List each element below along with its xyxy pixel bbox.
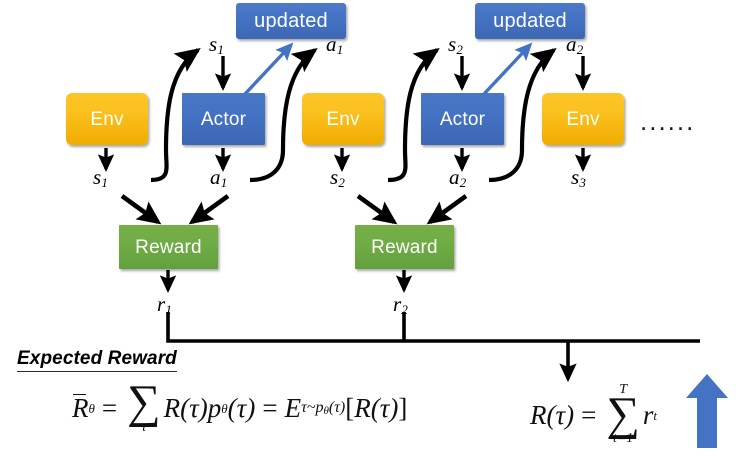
label-a2-top: a2	[566, 34, 583, 56]
label-a1-bottom-sub: 1	[221, 175, 228, 190]
actor-box-2[interactable]: Actor	[421, 93, 504, 145]
arrow-s1-to-reward1	[122, 196, 158, 222]
label-s2-bottom-base: s	[330, 165, 338, 189]
actor-box-2-label: Actor	[440, 110, 485, 129]
reward-box-2-label: Reward	[371, 238, 438, 257]
formula-term-reward: R(τ)	[164, 395, 208, 422]
label-s1-top: s1	[209, 34, 224, 56]
env-box-3[interactable]: Env	[542, 93, 624, 145]
actor-box-1[interactable]: Actor	[182, 93, 265, 145]
diagram-canvas: Env Actor Env Actor Env updated updated …	[0, 0, 755, 459]
env-box-2[interactable]: Env	[302, 93, 384, 145]
reward-box-2[interactable]: Reward	[355, 225, 454, 269]
formula-sum-2: T ∑ t=1	[606, 384, 640, 446]
formula-total-return-equals: =	[574, 402, 603, 429]
formula-bracket-open: [	[345, 395, 354, 422]
formula-total-return: R(τ) = T ∑ t=1 rt	[530, 384, 657, 446]
formula-bracket-content: R(τ)	[354, 395, 398, 422]
formula-sum-1: ∑ τ	[127, 383, 161, 434]
actor-box-1-label: Actor	[201, 110, 246, 129]
blue-arrow-actor2-to-updated2	[484, 45, 530, 94]
label-r1-base: r	[157, 292, 165, 316]
formula-sum-1-symbol: ∑	[127, 383, 161, 422]
arrow-s2-to-reward2	[358, 196, 394, 222]
formula-sum-1-index: τ	[141, 422, 146, 435]
section-heading-expected-reward: Expected Reward	[17, 349, 177, 372]
formula-bracket-close: ]	[398, 395, 407, 422]
formula-lhs-rbar: R	[72, 395, 89, 422]
blue-arrow-actor1-to-updated1	[245, 45, 291, 94]
label-s3-bottom: s3	[571, 167, 586, 189]
formula-lhs-symbol: R	[72, 393, 89, 423]
label-a2-bottom: a2	[449, 167, 466, 189]
label-a1-top-base: a	[326, 32, 337, 56]
label-a1-bottom-base: a	[210, 165, 221, 189]
section-heading-text: Expected Reward	[17, 349, 177, 372]
updated-box-1-label: updated	[254, 11, 328, 31]
formula-total-return-term: r	[643, 402, 654, 429]
formula-total-return-term-subscript: t	[653, 409, 657, 422]
formula-equals-2: =	[255, 395, 284, 422]
formula-expectation-subscript-arg: (τ)	[329, 399, 345, 416]
label-s1-bottom-base: s	[93, 165, 101, 189]
formula-sum-2-lower: t=1	[613, 433, 633, 446]
env-box-1[interactable]: Env	[66, 93, 148, 145]
arrow-a2-to-reward2	[430, 196, 466, 222]
label-s2-top-base: s	[448, 32, 456, 56]
label-s1-top-sub: 1	[217, 42, 224, 57]
formula-term-prob-arg: (τ)	[228, 395, 256, 422]
formula-sum-2-symbol: ∑	[606, 395, 640, 434]
label-r2-sub: 2	[401, 302, 408, 317]
label-a2-top-sub: 2	[577, 42, 584, 57]
label-a2-top-base: a	[566, 32, 577, 56]
label-a1-top: a1	[326, 34, 343, 56]
label-s1-bottom-sub: 1	[101, 175, 108, 190]
formula-expectation-symbol: E	[285, 395, 302, 422]
label-r1: r1	[157, 294, 172, 316]
formula-total-return-lhs: R(τ)	[530, 402, 574, 429]
label-r1-sub: 1	[165, 302, 172, 317]
formula-expectation-subscript-main: τ~p	[301, 399, 323, 416]
label-s2-bottom-sub: 2	[338, 175, 345, 190]
reward-box-1[interactable]: Reward	[119, 225, 218, 269]
label-r2: r2	[393, 294, 408, 316]
env-box-1-label: Env	[90, 110, 123, 129]
label-r2-base: r	[393, 292, 401, 316]
env-box-3-label: Env	[566, 110, 599, 129]
label-a1-bottom: a1	[210, 167, 227, 189]
label-s3-bottom-base: s	[571, 165, 579, 189]
updated-box-2-label: updated	[493, 11, 567, 31]
formula-equals-1: =	[95, 395, 124, 422]
arrow-a1-to-reward1	[192, 196, 228, 222]
formula-term-prob-symbol: p	[208, 395, 222, 422]
env-box-2-label: Env	[326, 110, 359, 129]
reward-box-1-label: Reward	[135, 238, 202, 257]
label-s2-top-sub: 2	[456, 42, 463, 57]
label-s1-top-base: s	[209, 32, 217, 56]
formula-expected-reward: Rθ = ∑ τ R(τ)pθ(τ) = Eτ~pθ(τ)[R(τ)]	[72, 383, 407, 434]
label-a2-bottom-sub: 2	[460, 175, 467, 190]
label-s3-bottom-sub: 3	[579, 175, 586, 190]
formula-expectation-subscript: τ~pθ(τ)	[301, 400, 345, 417]
ellipsis-continuation: ......	[640, 108, 695, 134]
label-s2-top: s2	[448, 34, 463, 56]
label-s2-bottom: s2	[330, 167, 345, 189]
label-s1-bottom: s1	[93, 167, 108, 189]
label-a2-bottom-base: a	[449, 165, 460, 189]
reward-collector-bus	[168, 312, 700, 341]
label-a1-top-sub: 1	[337, 42, 344, 57]
maximize-up-arrow-icon	[684, 372, 730, 450]
